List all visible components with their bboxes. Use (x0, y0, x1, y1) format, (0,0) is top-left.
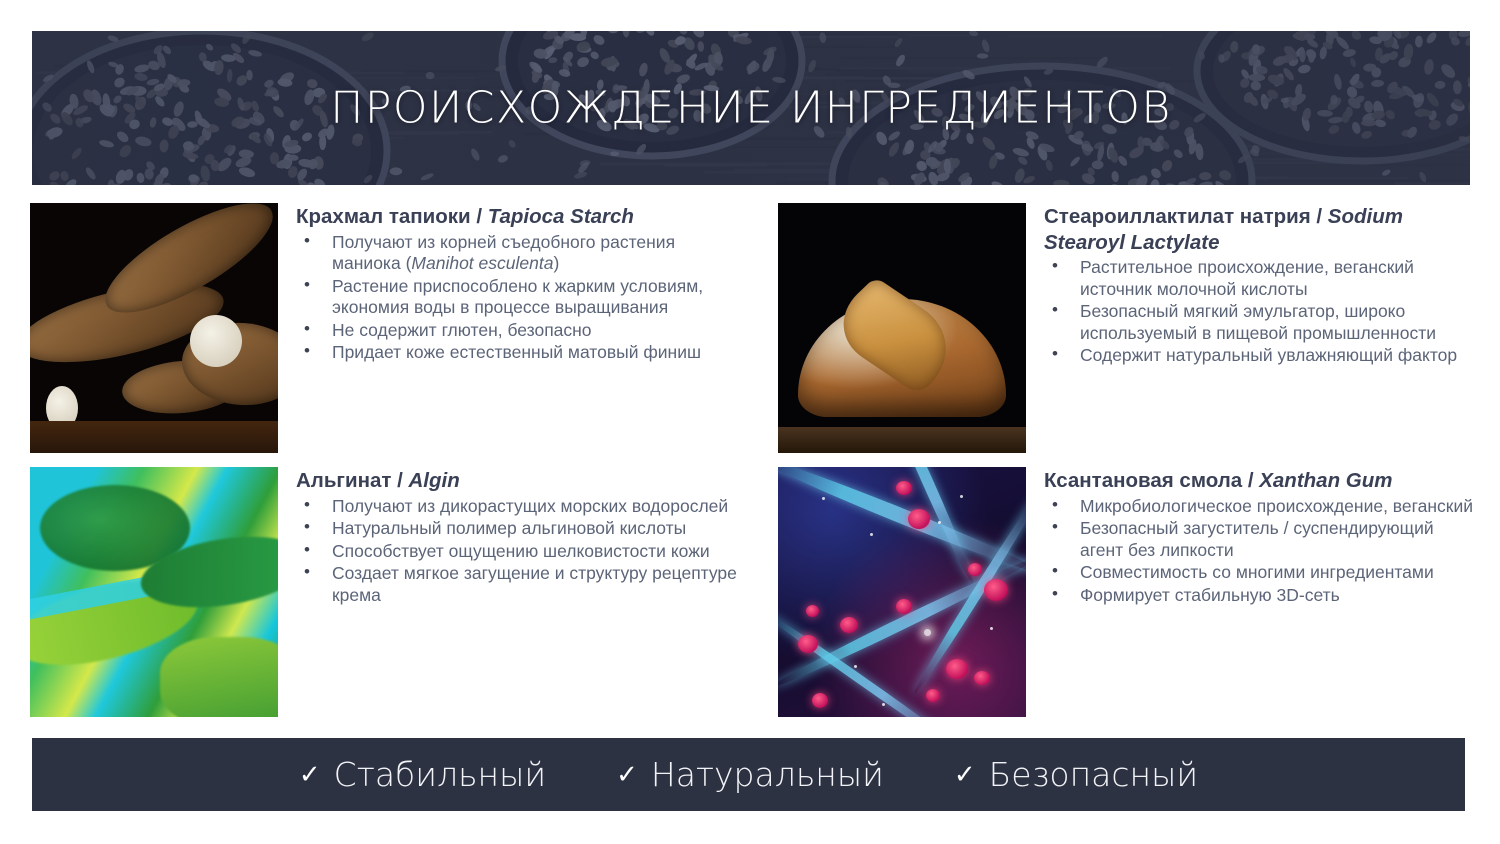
list-item: Содержит натуральный увлажняющий фактор (1044, 345, 1478, 367)
list-item: Растительное происхождение, веганский ис… (1044, 257, 1478, 300)
ingredient-text-block: Альгинат / Algin Получают из дикорастущи… (278, 467, 740, 607)
bullet-text: Безопасный загуститель / суспендирующий … (1080, 518, 1434, 560)
list-item: Способствует ощущению шелковистости кожи (296, 541, 740, 563)
ingredient-title-ru: Ксантановая смола / (1044, 469, 1259, 492)
ingredient-title-latin: Xanthan Gum (1259, 469, 1392, 492)
ingredient-bullet-list: Растительное происхождение, веганский ис… (1044, 257, 1478, 367)
bullet-text: Не содержит глютен, безопасно (332, 320, 592, 340)
ingredient-title-ru: Стеароиллактилат натрия / (1044, 205, 1328, 228)
bullet-text: Растение приспособлено к жарким условиям… (332, 276, 703, 318)
list-item: Безопасный мягкий эмульгатор, широко исп… (1044, 301, 1478, 344)
bullet-text: Безопасный мягкий эмульгатор, широко исп… (1080, 301, 1436, 343)
ingredient-card-algin: Альгинат / Algin Получают из дикорастущи… (30, 467, 740, 717)
benefit-safe: ✓ Безопасный (954, 755, 1198, 794)
bullet-text: Формирует стабильную 3D-сеть (1080, 585, 1340, 605)
bullet-text-italic: Manihot esculenta (411, 253, 553, 273)
ingredient-card-tapioca-starch: Крахмал тапиоки / Tapioca Starch Получаю… (30, 203, 740, 453)
ingredient-title: Альгинат / Algin (296, 468, 740, 494)
list-item: Совместимость со многими ингредиентами (1044, 562, 1478, 584)
slide-canvas: ПРОИСХОЖДЕНИЕ ИНГРЕДИЕНТОВ Крахмал тапио… (0, 0, 1500, 844)
ingredient-title-ru: Крахмал тапиоки / (296, 205, 488, 228)
list-item: Формирует стабильную 3D-сеть (1044, 585, 1478, 607)
ingredient-grid: Крахмал тапиоки / Tapioca Starch Получаю… (30, 203, 1480, 725)
ingredient-title-latin: Tapioca Starch (488, 205, 634, 228)
bullet-text: Растительное происхождение, веганский ис… (1080, 257, 1414, 299)
ingredient-bullet-list: Получают из корней съедобного растения м… (296, 232, 740, 364)
benefit-stable: ✓ Стабильный (299, 755, 546, 794)
cassava-roots-image (30, 203, 278, 453)
benefit-natural: ✓ Натуральный (616, 755, 884, 794)
bullet-text: Создает мягкое загущение и структуру рец… (332, 563, 737, 605)
benefit-label: Натуральный (651, 755, 884, 794)
ingredient-bullet-list: Микробиологическое происхождение, веганс… (1044, 496, 1478, 607)
bullet-text: Совместимость со многими ингредиентами (1080, 562, 1434, 582)
bullet-text: Микробиологическое происхождение, веганс… (1080, 496, 1473, 516)
ingredient-title-ru: Альгинат / (296, 469, 408, 492)
list-item: Натуральный полимер альгиновой кислоты (296, 518, 740, 540)
page-title: ПРОИСХОЖДЕНИЕ ИНГРЕДИЕНТОВ (32, 83, 1470, 134)
list-item: Растение приспособлено к жарким условиям… (296, 276, 740, 319)
ingredient-text-block: Ксантановая смола / Xanthan Gum Микробио… (1026, 467, 1478, 607)
list-item: Не содержит глютен, безопасно (296, 320, 740, 342)
bullet-text: Способствует ощущению шелковистости кожи (332, 541, 710, 561)
bullet-text: Содержит натуральный увлажняющий фактор (1080, 345, 1457, 365)
microbial-network-image (778, 467, 1026, 717)
check-icon: ✓ (954, 760, 976, 790)
bullet-text: Придает коже естественный матовый финиш (332, 342, 701, 362)
bullet-text: Натуральный полимер альгиновой кислоты (332, 518, 686, 538)
bullet-text: Получают из дикорастущих морских водорос… (332, 496, 728, 516)
ingredient-text-block: Крахмал тапиоки / Tapioca Starch Получаю… (278, 203, 740, 365)
ingredient-title: Стеароиллактилат натрия / Sodium Stearoy… (1044, 204, 1478, 255)
ingredient-title: Ксантановая смола / Xanthan Gum (1044, 468, 1478, 494)
list-item: Получают из дикорастущих морских водорос… (296, 496, 740, 518)
list-item: Придает коже естественный матовый финиш (296, 342, 740, 364)
check-icon: ✓ (299, 760, 321, 790)
bullet-text-suffix: ) (553, 253, 559, 273)
benefits-bar: ✓ Стабильный ✓ Натуральный ✓ Безопасный (32, 738, 1465, 811)
list-item: Получают из корней съедобного растения м… (296, 232, 740, 275)
list-item: Создает мягкое загущение и структуру рец… (296, 563, 740, 606)
ingredient-card-sodium-stearoyl-lactylate: Стеароиллактилат натрия / Sodium Stearoy… (778, 203, 1478, 453)
ingredient-title-latin: Algin (408, 469, 459, 492)
benefit-label: Безопасный (989, 755, 1198, 794)
seaweed-abstract-image (30, 467, 278, 717)
sourdough-bread-loaf-image (778, 203, 1026, 453)
benefit-label: Стабильный (334, 755, 546, 794)
list-item: Безопасный загуститель / суспендирующий … (1044, 518, 1478, 561)
ingredient-card-xanthan-gum: Ксантановая смола / Xanthan Gum Микробио… (778, 467, 1478, 717)
check-icon: ✓ (616, 760, 638, 790)
ingredient-text-block: Стеароиллактилат натрия / Sodium Stearoy… (1026, 203, 1478, 368)
header-banner: ПРОИСХОЖДЕНИЕ ИНГРЕДИЕНТОВ (32, 31, 1470, 185)
list-item: Микробиологическое происхождение, веганс… (1044, 496, 1478, 518)
ingredient-title: Крахмал тапиоки / Tapioca Starch (296, 204, 740, 230)
ingredient-bullet-list: Получают из дикорастущих морских водорос… (296, 496, 740, 607)
